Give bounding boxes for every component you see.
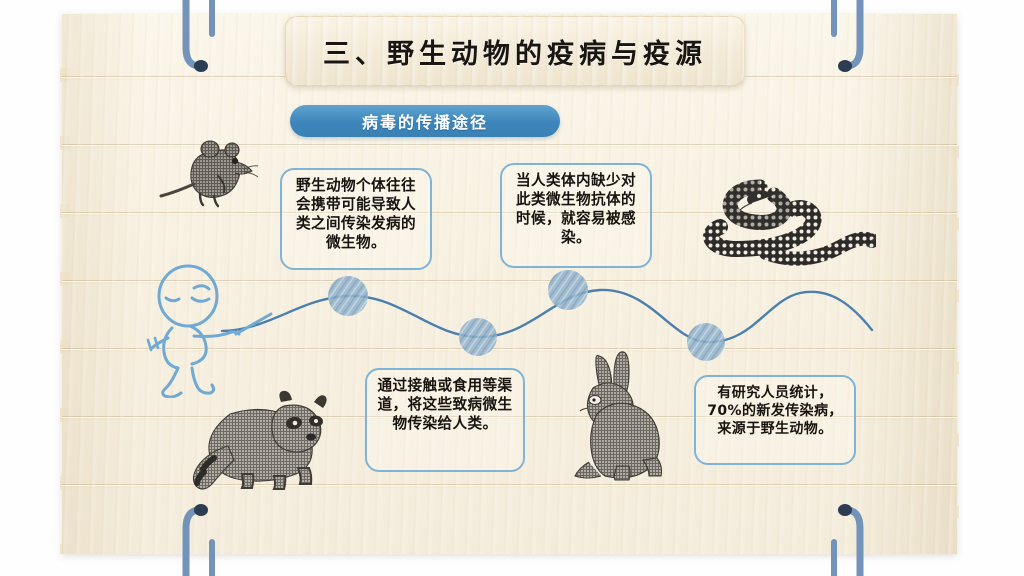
stick-figure-person	[146, 262, 274, 398]
snake-illustration	[700, 165, 876, 277]
binder-clip-top-left	[168, 0, 228, 80]
mouse-illustration	[158, 136, 262, 212]
binder-clip-bottom-right	[818, 486, 878, 576]
board-right-edge	[949, 14, 959, 554]
rabbit-illustration	[563, 350, 677, 482]
section-banner: 病毒的传播途径	[290, 105, 560, 137]
note-box-4: 有研究人员统计，70%的新发传染病，来源于野生动物。	[694, 375, 856, 465]
note-box-3: 通过接触或食用等渠道，将这些致病微生物传染给人类。	[365, 368, 525, 472]
note-box-2: 当人类体内缺少对此类微生物抗体的时候，就容易被感染。	[500, 163, 652, 268]
board-left-edge	[60, 14, 70, 554]
slide-canvas: 三、野生动物的疫病与疫源 病毒的传播途径	[0, 0, 1024, 576]
note-box-1: 野生动物个体往往会携带可能导致人类之间传染发病的微生物。	[280, 168, 432, 270]
binder-clip-top-right	[818, 0, 878, 80]
section-banner-label: 病毒的传播途径	[362, 109, 488, 133]
binder-clip-bottom-left	[168, 486, 228, 576]
title-plaque: 三、野生动物的疫病与疫源	[285, 16, 745, 86]
page-title: 三、野生动物的疫病与疫源	[285, 16, 745, 86]
raccoon-illustration	[188, 390, 334, 490]
